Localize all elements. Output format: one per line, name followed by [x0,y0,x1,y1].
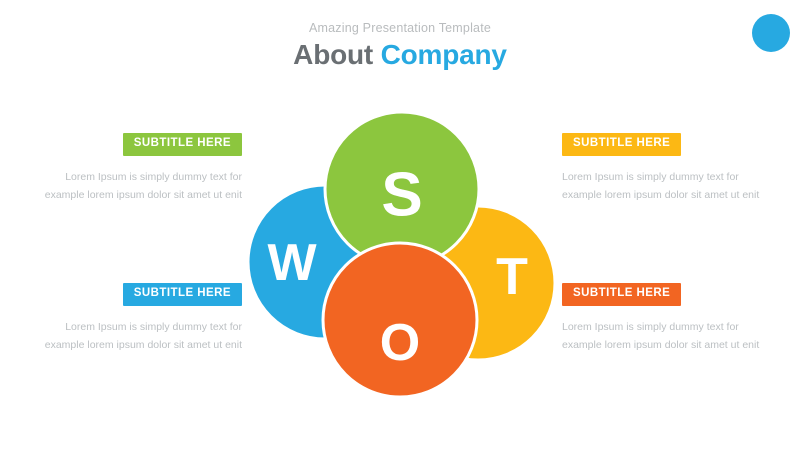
description-weaknesses: Lorem Ipsum is simply dummy text forexam… [37,318,242,354]
swot-letter-o: O [380,314,420,372]
swot-text-block-threats: SUBTITLE HERE Lorem Ipsum is simply dumm… [562,133,767,204]
swot-letter-t: T [496,248,528,306]
description-threats: Lorem Ipsum is simply dummy text forexam… [562,168,767,204]
subtitle-badge-threats[interactable]: SUBTITLE HERE [562,133,681,156]
swot-text-block-weaknesses: SUBTITLE HERE Lorem Ipsum is simply dumm… [37,283,242,354]
title-word-about: About [293,39,373,70]
description-line-1: Lorem Ipsum is simply dummy text for [65,321,242,333]
subtitle-badge-weaknesses[interactable]: SUBTITLE HERE [123,283,242,306]
description-line-1: Lorem Ipsum is simply dummy text for [65,171,242,183]
blue-dot-decoration-icon [752,14,790,52]
swot-letter-s: S [381,161,422,230]
swot-letter-w: W [267,234,317,292]
description-line-1: Lorem Ipsum is simply dummy text for [562,171,739,183]
swot-text-block-strengths: SUBTITLE HERE Lorem Ipsum is simply dumm… [37,133,242,204]
eyebrow-text: Amazing Presentation Template [0,22,800,35]
description-line-2: example lorem ipsum dolor sit amet ut en… [562,339,759,351]
description-strengths: Lorem Ipsum is simply dummy text forexam… [37,168,242,204]
description-line-2: example lorem ipsum dolor sit amet ut en… [562,189,759,201]
subtitle-badge-strengths[interactable]: SUBTITLE HERE [123,133,242,156]
slide-header: Amazing Presentation Template About Comp… [0,22,800,69]
swot-text-block-opportunities: SUBTITLE HERE Lorem Ipsum is simply dumm… [562,283,767,354]
description-line-2: example lorem ipsum dolor sit amet ut en… [45,189,242,201]
swot-diagram: W T S O [240,105,565,405]
subtitle-badge-opportunities[interactable]: SUBTITLE HERE [562,283,681,306]
description-opportunities: Lorem Ipsum is simply dummy text forexam… [562,318,767,354]
slide-canvas: Amazing Presentation Template About Comp… [0,0,800,450]
swot-petal-opportunities[interactable]: O [323,243,477,397]
page-title: About Company [0,41,800,69]
description-line-2: example lorem ipsum dolor sit amet ut en… [45,339,242,351]
description-line-1: Lorem Ipsum is simply dummy text for [562,321,739,333]
title-word-company: Company [381,39,507,70]
